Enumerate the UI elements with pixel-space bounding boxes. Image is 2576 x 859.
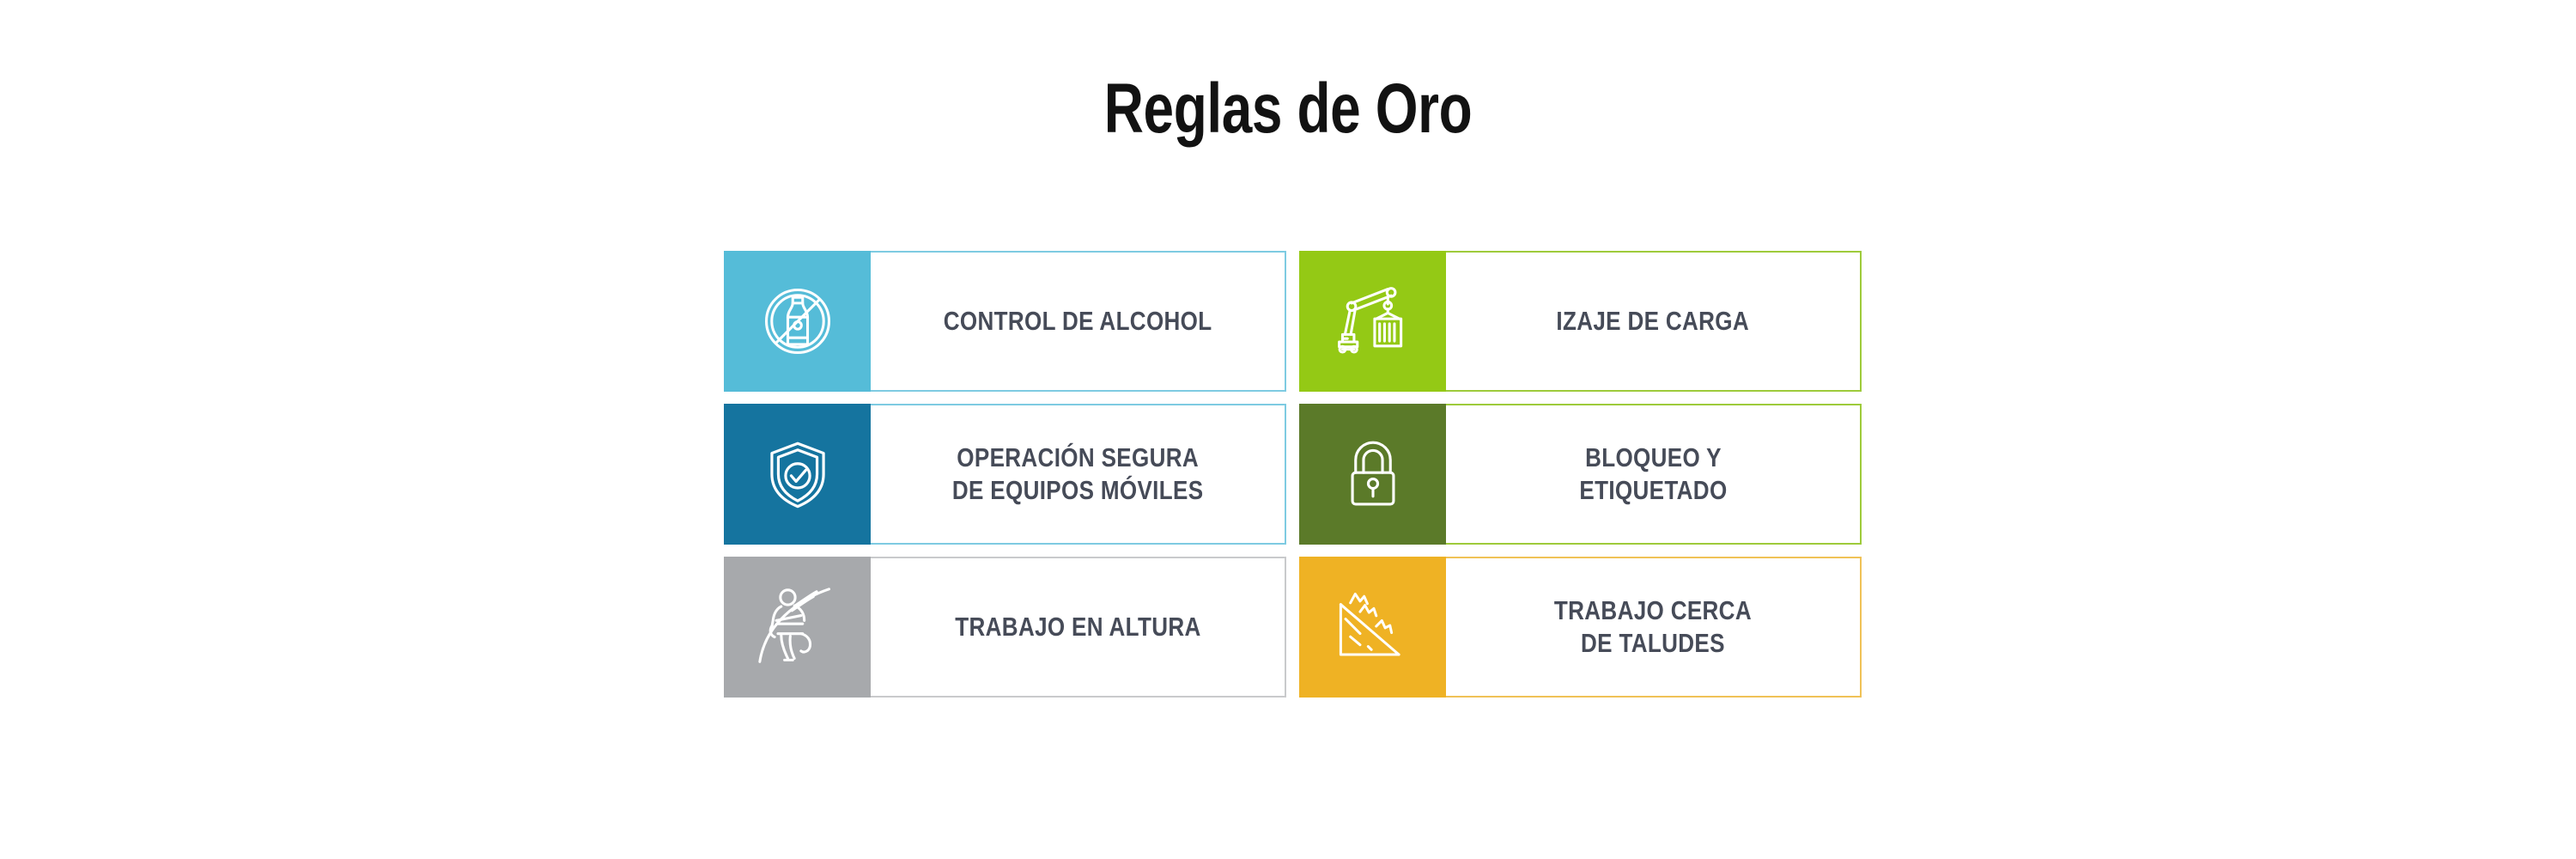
rule-card-body: TRABAJO CERCA DE TALUDES (1446, 557, 1862, 698)
rule-card-label: OPERACIÓN SEGURA DE EQUIPOS MÓVILES (952, 442, 1204, 507)
padlock-icon (1334, 435, 1413, 514)
rule-card-body: CONTROL DE ALCOHOL (871, 251, 1286, 392)
rule-card-label: IZAJE DE CARGA (1557, 305, 1750, 338)
rule-card-trabajo-en-altura[interactable]: TRABAJO EN ALTURA (724, 557, 1286, 698)
rules-grid: CONTROL DE ALCOHOL (724, 251, 1862, 698)
rule-card-trabajo-cerca-de-taludes[interactable]: TRABAJO CERCA DE TALUDES (1299, 557, 1862, 698)
page-title: Reglas de Oro (283, 74, 2293, 144)
rule-card-label: TRABAJO CERCA DE TALUDES (1554, 594, 1752, 660)
rock-slope-icon (1333, 587, 1413, 667)
crane-lifting-container-icon (1332, 280, 1414, 362)
rule-card-control-de-alcohol[interactable]: CONTROL DE ALCOHOL (724, 251, 1286, 392)
rule-card-body: TRABAJO EN ALTURA (871, 557, 1286, 698)
rule-card-icon-tile (1299, 404, 1446, 545)
rule-card-body: IZAJE DE CARGA (1446, 251, 1862, 392)
rule-card-izaje-de-carga[interactable]: IZAJE DE CARGA (1299, 251, 1862, 392)
rule-card-icon-tile (724, 251, 871, 392)
rule-card-body: OPERACIÓN SEGURA DE EQUIPOS MÓVILES (871, 404, 1286, 545)
shield-check-icon (757, 434, 838, 515)
rule-card-label: TRABAJO EN ALTURA (955, 611, 1200, 643)
rule-card-body: BLOQUEO Y ETIQUETADO (1446, 404, 1862, 545)
reglas-de-oro-poster: Reglas de Oro (0, 0, 2576, 859)
rule-card-icon-tile (1299, 557, 1446, 698)
rule-card-icon-tile (1299, 251, 1446, 392)
rule-card-label: BLOQUEO Y ETIQUETADO (1579, 442, 1727, 507)
rule-card-icon-tile (724, 557, 871, 698)
rule-card-operacion-segura-de-equipos-moviles[interactable]: OPERACIÓN SEGURA DE EQUIPOS MÓVILES (724, 404, 1286, 545)
rule-card-label: CONTROL DE ALCOHOL (944, 305, 1212, 338)
rule-card-bloqueo-y-etiquetado[interactable]: BLOQUEO Y ETIQUETADO (1299, 404, 1862, 545)
no-alcohol-icon (756, 280, 839, 362)
rule-card-icon-tile (724, 404, 871, 545)
climber-harness-icon (756, 586, 839, 668)
